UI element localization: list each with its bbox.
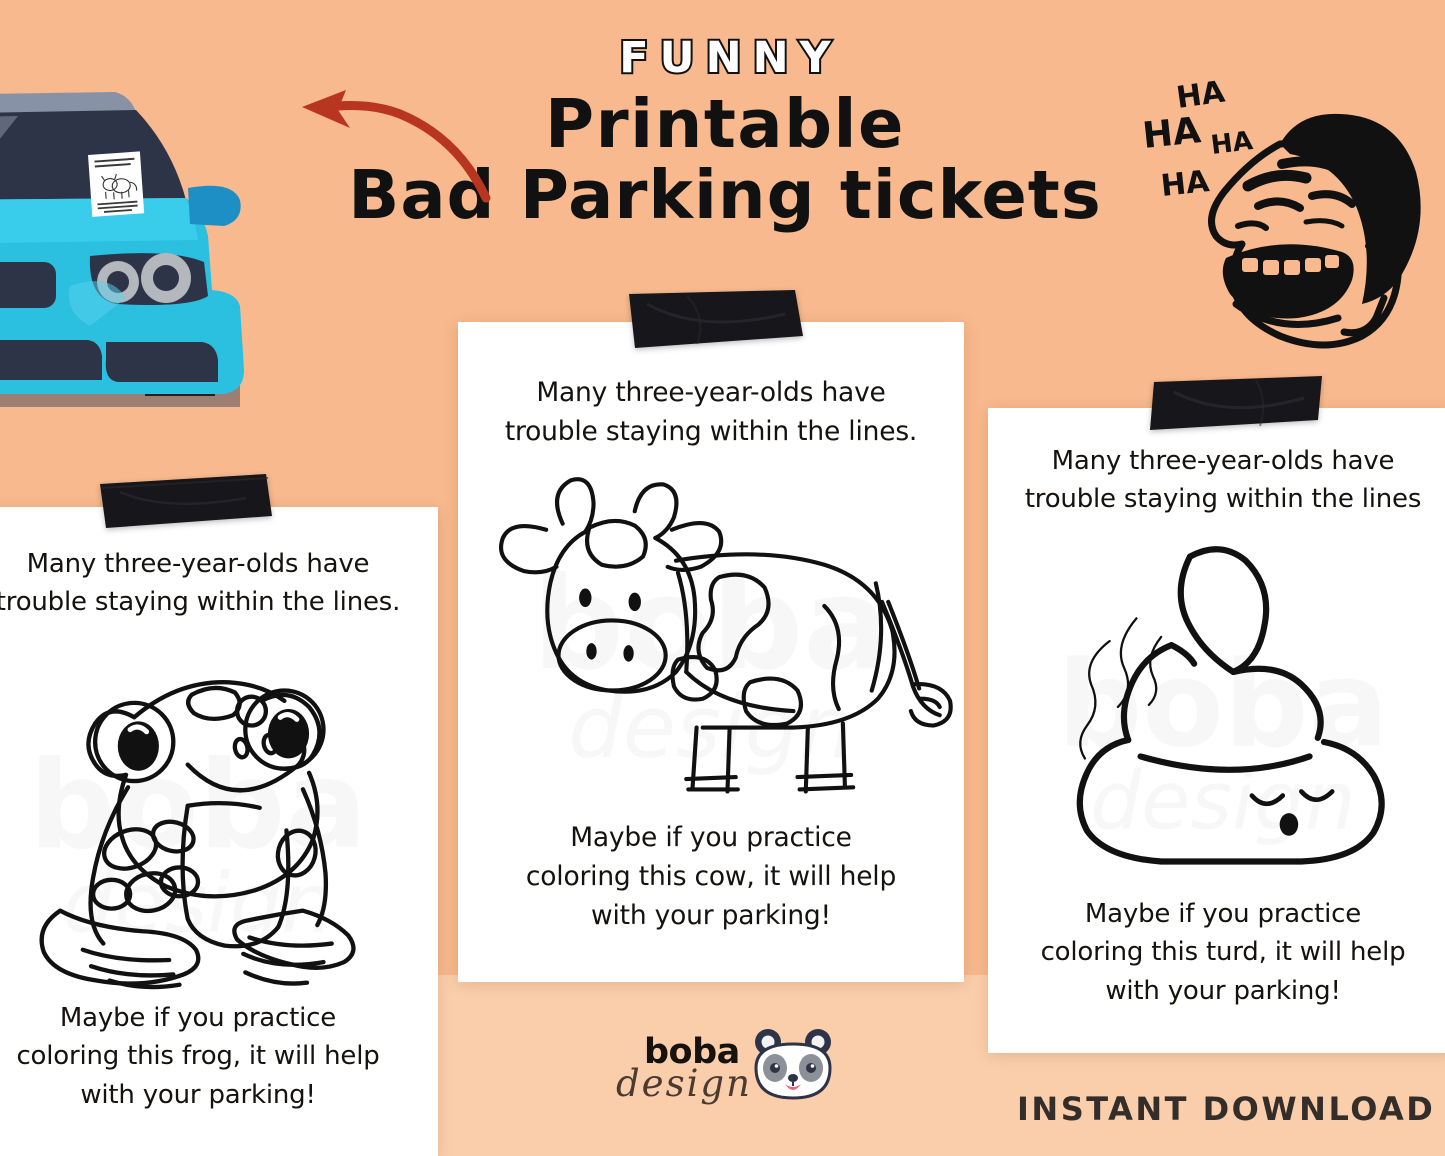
tape-strip-cow-card (627, 290, 803, 350)
card-cow-caption-line-3: with your parking! (458, 896, 964, 935)
laughing-man-illustration: HA HA HA HA (1130, 36, 1445, 366)
card-cow-caption-line-1: Maybe if you practice (458, 818, 964, 857)
ha-text: HA (1141, 110, 1203, 157)
poster-canvas: FUNNY Printable Bad Parking tickets HA H… (0, 0, 1445, 1156)
curved-arrow-pointing-left-icon (288, 86, 498, 206)
instant-download-label: INSTANT DOWNLOAD (1017, 1090, 1435, 1128)
ha-text: HA (1174, 74, 1228, 115)
card-turd-caption-line-1: Maybe if you practice (988, 895, 1445, 933)
ticket-card-turd[interactable]: boba design Many three-year-olds have tr… (988, 408, 1445, 1053)
card-cow-caption-line-2: coloring this cow, it will help (458, 857, 964, 896)
card-frog-caption-line-1: Maybe if you practice (0, 999, 438, 1037)
ticket-card-cow[interactable]: boba design Many three-year-olds have tr… (458, 322, 964, 982)
card-frog-caption-line-2: coloring this frog, it will help (0, 1037, 438, 1075)
turd-coloring-outline (988, 538, 1445, 878)
boba-design-logo[interactable]: boba design (610, 1022, 832, 1118)
tape-strip-frog-card (96, 472, 272, 530)
card-cow-caption: Maybe if you practice coloring this cow,… (458, 818, 964, 936)
card-cow-headline-line-1: Many three-year-olds have (458, 374, 964, 413)
card-turd-caption-line-2: coloring this turd, it will help (988, 933, 1445, 971)
card-turd-headline-line-2: trouble staying within the lines (988, 480, 1445, 518)
card-cow-headline-line-2: trouble staying within the lines. (458, 413, 964, 452)
card-frog-caption: Maybe if you practice coloring this frog… (0, 999, 438, 1114)
card-turd-caption-line-3: with your parking! (988, 972, 1445, 1010)
ticket-card-frog[interactable]: boba design Many three-year-olds have tr… (0, 507, 438, 1156)
headline-eyebrow: FUNNY (330, 34, 1120, 83)
card-frog-caption-line-3: with your parking! (0, 1076, 438, 1114)
panda-face-icon (750, 1024, 836, 1110)
tape-strip-turd-card (1148, 376, 1324, 434)
logo-script: design (616, 1062, 752, 1105)
ha-text: HA (1209, 126, 1254, 161)
card-turd-caption: Maybe if you practice coloring this turd… (988, 895, 1445, 1010)
card-frog-headline-line-2: trouble staying within the lines. (0, 583, 438, 621)
card-frog-headline-line-1: Many three-year-olds have (0, 545, 438, 583)
cow-coloring-outline (458, 470, 964, 810)
ha-text: HA (1159, 164, 1211, 204)
card-turd-headline-line-1: Many three-year-olds have (988, 442, 1445, 480)
frog-coloring-outline (0, 635, 438, 995)
